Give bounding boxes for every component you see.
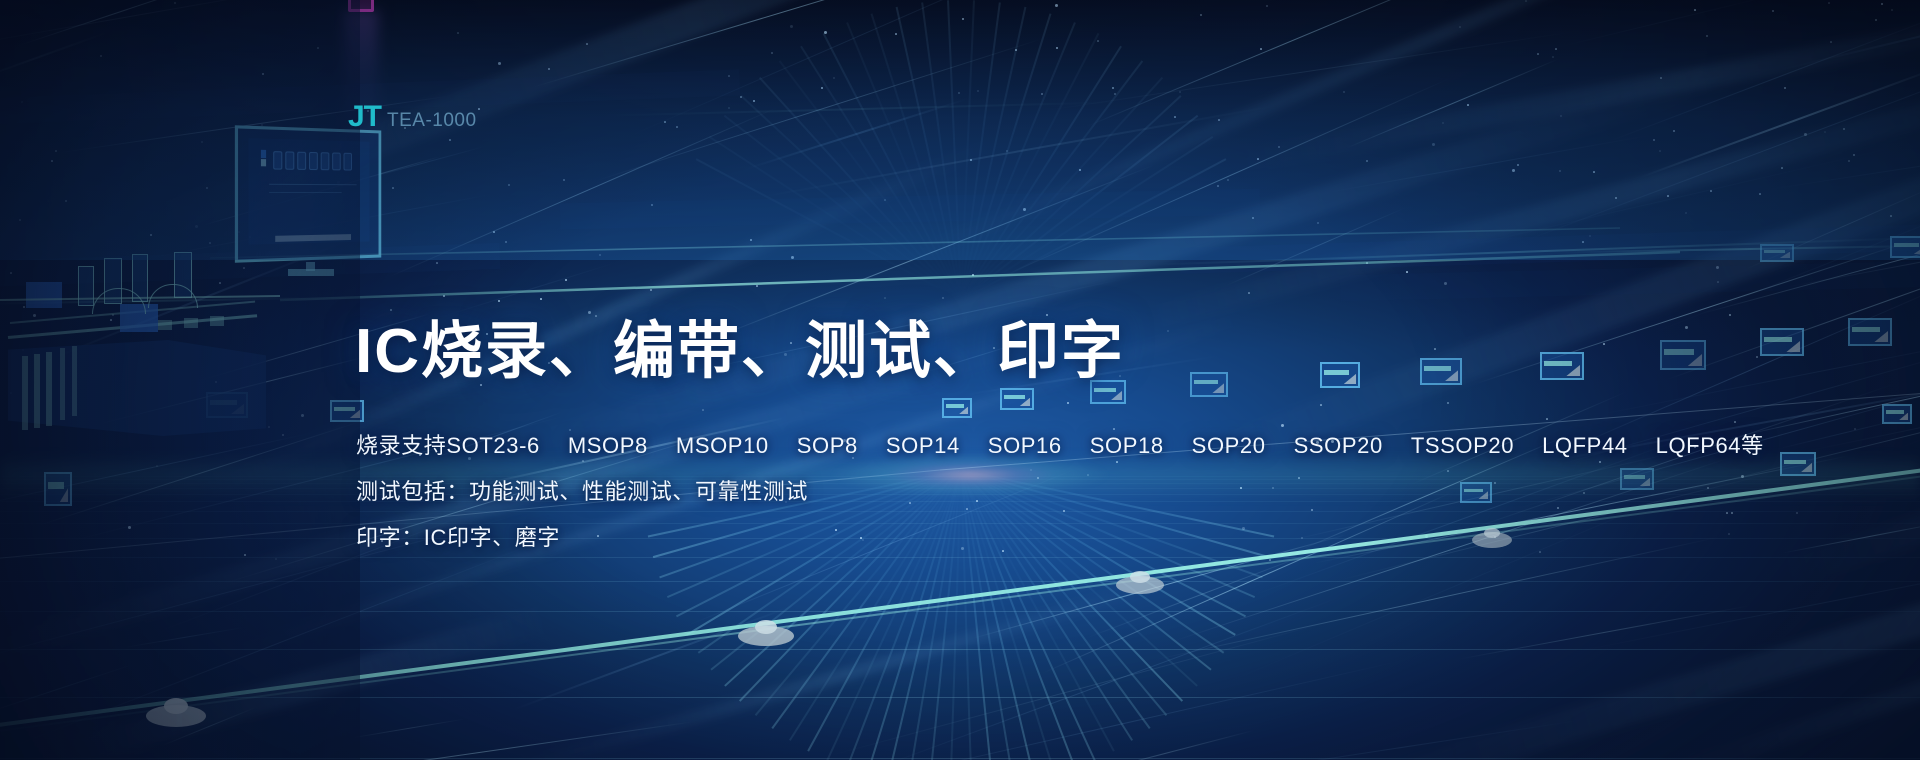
package-name: TSSOP20 <box>1411 433 1514 458</box>
burn-support-line: 烧录支持SOT23-6MSOP8MSOP10SOP8SOP14SOP16SOP1… <box>356 428 1764 460</box>
test-scope-line: 测试包括：功能测试、性能测试、可靠性测试 <box>356 474 808 506</box>
ic-service-banner: JT TEA-1000 IC烧录、编带、测试、印字 烧录支持SOT23-6MSO… <box>0 0 1920 760</box>
page-title: IC烧录、编带、测试、印字 <box>355 318 1125 386</box>
package-name: SOP16 <box>988 433 1062 458</box>
package-name: MSOP8 <box>568 433 648 458</box>
marking-service-line: 印字：IC印字、磨字 <box>356 520 560 552</box>
burn-support-prefix: 烧录支持SOT23-6 <box>356 433 540 458</box>
package-name: SSOP20 <box>1294 433 1383 458</box>
package-name: SOP14 <box>886 433 960 458</box>
package-name: SOP20 <box>1192 433 1266 458</box>
package-name: MSOP10 <box>676 433 769 458</box>
package-name: SOP18 <box>1090 433 1164 458</box>
package-list: MSOP8MSOP10SOP8SOP14SOP16SOP18SOP20SSOP2… <box>540 433 1764 458</box>
package-name: SOP8 <box>797 433 858 458</box>
package-name: LQFP44 <box>1542 433 1628 458</box>
package-name: LQFP64等 <box>1656 433 1764 458</box>
banner-content: IC烧录、编带、测试、印字 烧录支持SOT23-6MSOP8MSOP10SOP8… <box>0 0 1920 760</box>
